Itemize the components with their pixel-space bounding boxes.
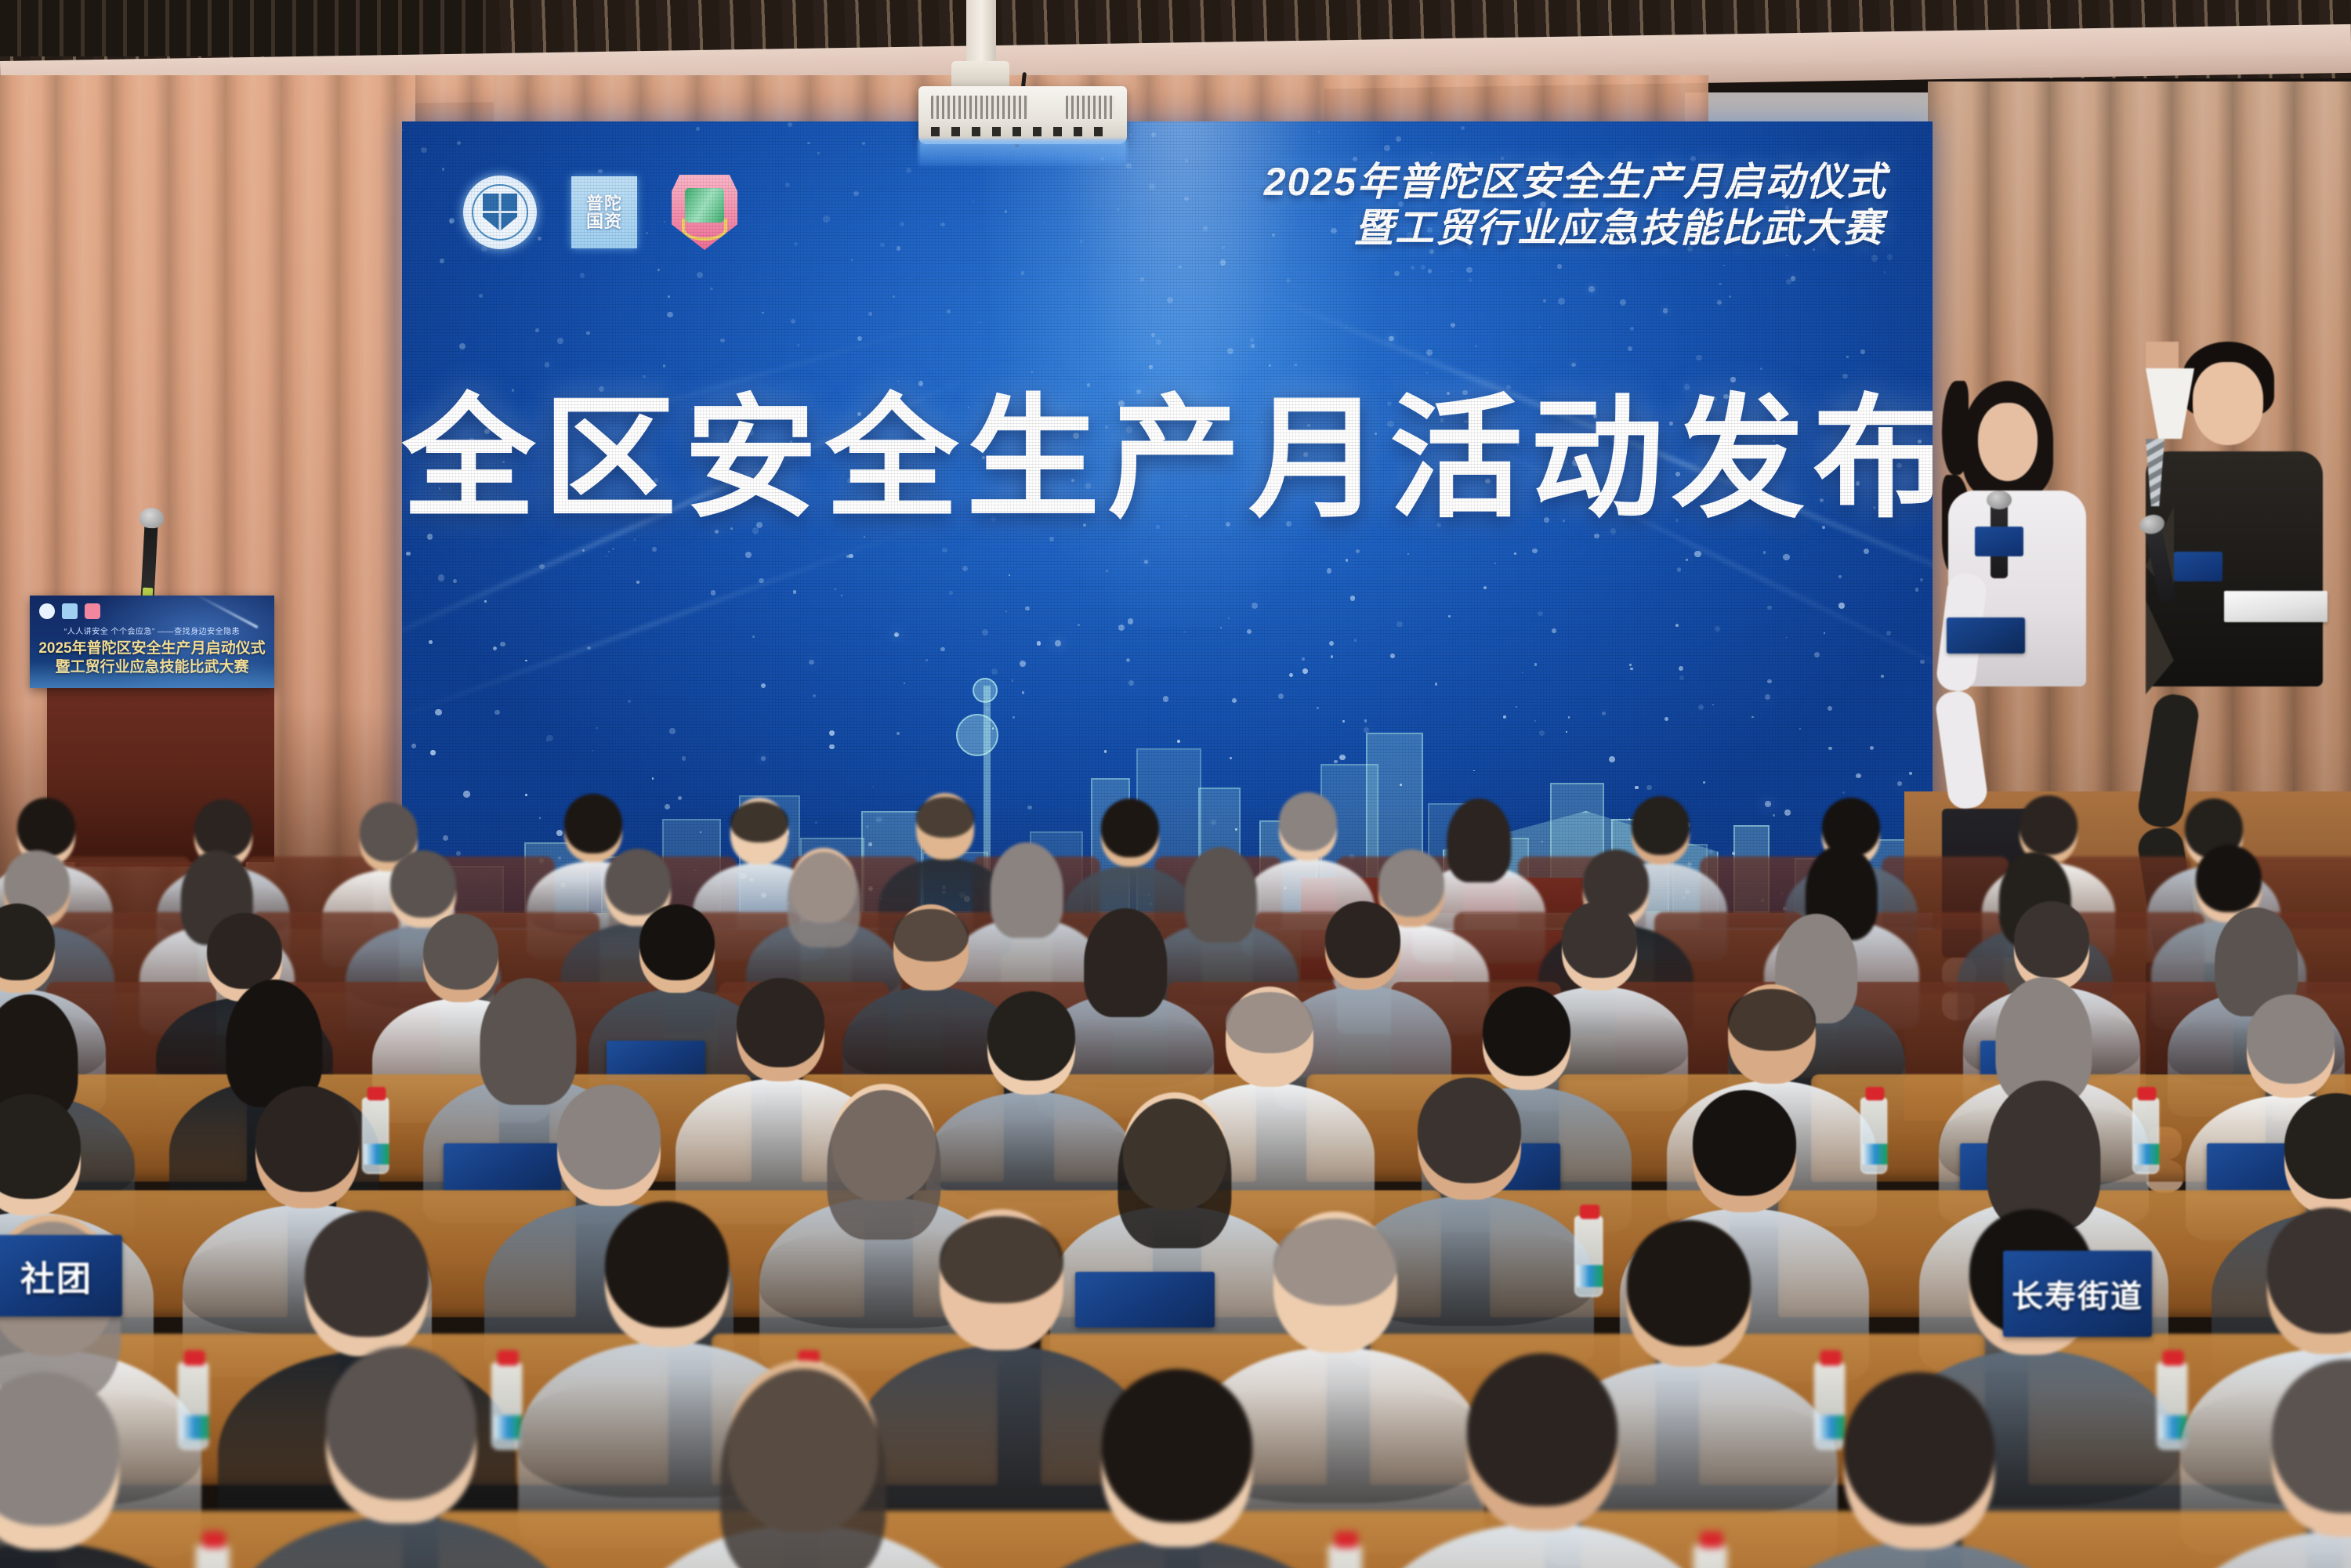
audience-member-hair [1844, 1372, 1994, 1526]
audience-member [623, 1360, 984, 1568]
audience-member-hair [1562, 901, 1637, 978]
audience-member-hair [1325, 901, 1400, 978]
audience-member-hair [1728, 989, 1816, 1050]
projector-port-row [931, 127, 1111, 136]
audience-member-hair [639, 904, 715, 981]
audience-member-hair [1627, 1220, 1751, 1346]
female-host-face [1978, 403, 2038, 481]
projector-lens-glow [918, 139, 1127, 166]
male-host-face [2193, 362, 2263, 445]
audience-member [2167, 1366, 2351, 1568]
audience-member-hair [207, 913, 282, 990]
audience-member-hair [605, 849, 671, 916]
projector-vent-right [1066, 96, 1114, 119]
audience-member-hair [2247, 994, 2335, 1084]
audience-member-hair [557, 1085, 661, 1190]
name-placard-left: 社团 [0, 1235, 122, 1316]
podium-sign-tagline: “人人讲安全 个个会应急” ——查找身边安全隐患 [30, 625, 274, 636]
audience-member-hair [987, 991, 1075, 1081]
audience-member [997, 1375, 1357, 1568]
audience-member-hair [564, 794, 622, 853]
audience-member-hair [1226, 992, 1313, 1053]
audience-member [1362, 1359, 1722, 1568]
audience-member-hair [305, 1211, 429, 1337]
female-host-mic-flag [1975, 527, 2023, 556]
projector-vent-left [931, 96, 1028, 119]
audience-member-hair [480, 978, 576, 1105]
audience-member-hair [1101, 798, 1159, 857]
podium-sign: “人人讲安全 个个会应急” ——查找身边安全隐患 2025年普陀区安全生产月启动… [30, 596, 274, 688]
audience-member-hair [1279, 792, 1337, 851]
name-placard-right: 长寿街道 [2003, 1251, 2152, 1337]
audience-member-hair [2196, 845, 2262, 912]
female-host [1942, 381, 2099, 820]
audience-member-hair [255, 1086, 359, 1192]
audience-member [1739, 1378, 2099, 1568]
podium-sign-comet [195, 596, 259, 628]
female-host-cue-card [1947, 617, 2025, 654]
podium-logo-badge [85, 603, 100, 619]
audience-member-hair [17, 798, 75, 856]
led-pixel-grid-overlay [402, 121, 1933, 913]
audience-member-hair [737, 978, 824, 1067]
conference-hall-scene: 普陀 国资 2025年普陀区安全生产月启动仪式 暨工贸行业应急技能比武大赛 全区… [0, 0, 2351, 1568]
water-bottle [1694, 1544, 1727, 1568]
led-backdrop-screen: 普陀 国资 2025年普陀区安全生产月启动仪式 暨工贸行业应急技能比武大赛 全区… [402, 121, 1933, 913]
male-host [2146, 342, 2323, 835]
audience-member-hair [326, 1346, 476, 1500]
audience-member-hair [1102, 1369, 1252, 1523]
audience-member-hair [1693, 1090, 1796, 1196]
ceiling-projector [918, 86, 1127, 144]
audience-member-torso [2167, 1530, 2351, 1568]
audience-member-hair [423, 914, 498, 990]
audience-member-hair [940, 1216, 1063, 1303]
podium-logo-square [62, 603, 78, 619]
female-host-arm-right [1934, 689, 1989, 810]
audience-member-hair [1632, 796, 1690, 855]
podium-logo-circle [39, 603, 55, 619]
audience-member-hair [1987, 1081, 2100, 1230]
audience-member-torso [221, 1516, 581, 1568]
audience-member-hair [2020, 795, 2078, 854]
male-host-neck [2146, 342, 2179, 368]
podium-sign-logos [39, 603, 100, 619]
water-bottle [1328, 1544, 1362, 1568]
audience-member-hair [730, 802, 788, 842]
audience-member-hair [916, 797, 974, 838]
podium-sign-line-1: 2025年普陀区安全生产月启动仪式 [30, 636, 274, 657]
podium-sign-skyline [30, 661, 274, 688]
male-host-script [2224, 591, 2327, 622]
audience-member-hair [893, 909, 969, 961]
audience-member-hair [605, 1201, 729, 1327]
audience-member-hair [1467, 1353, 1617, 1507]
audience-member-hair [390, 850, 456, 918]
audience-member-hair [194, 799, 252, 858]
audience-member [0, 1378, 224, 1568]
audience-member-hair [1273, 1219, 1397, 1305]
male-host-mic-flag [2174, 552, 2222, 581]
audience-member-hair [2014, 901, 2089, 978]
audience-member-hair [1483, 987, 1570, 1076]
ceiling-slats-left [0, 0, 486, 56]
audience-member [221, 1352, 581, 1568]
male-host-dress-shirt [2146, 368, 2194, 439]
audience-member-hair [1418, 1077, 1521, 1183]
